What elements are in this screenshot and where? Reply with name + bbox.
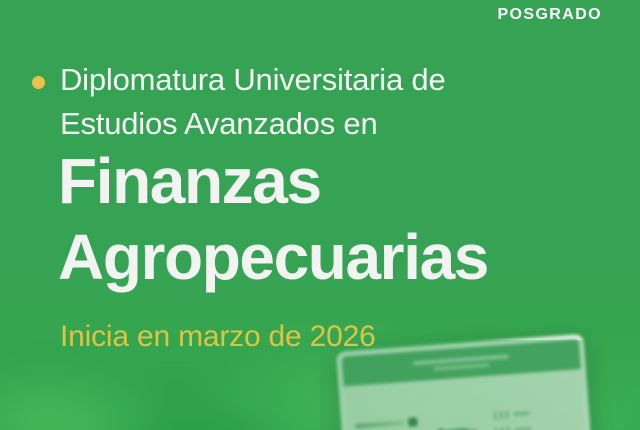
posgrado-badge: POSGRADO bbox=[497, 6, 602, 24]
start-date-text: Inicia en marzo de 2026 bbox=[60, 320, 376, 354]
cow-icon bbox=[429, 418, 484, 430]
subtitle-line-1: Diplomatura Universitaria de bbox=[60, 62, 446, 97]
cow-illustration-panel bbox=[424, 417, 489, 430]
headline-line-1: Finanzas bbox=[58, 145, 321, 217]
headline-line-2: Agropecuarias bbox=[58, 221, 488, 293]
tally-row bbox=[493, 405, 575, 420]
tablet-screen bbox=[341, 339, 590, 430]
list-item-bar bbox=[355, 420, 404, 429]
list-item bbox=[355, 417, 417, 430]
list-item-chip bbox=[408, 417, 418, 427]
tally-marks bbox=[493, 410, 510, 420]
subtitle-line-2: Estudios Avanzados en bbox=[60, 106, 378, 141]
tally-row-label bbox=[513, 411, 530, 416]
program-headline: Finanzas Agropecuarias bbox=[58, 143, 638, 295]
dashboard-title-placeholder bbox=[413, 354, 509, 365]
tally-row bbox=[494, 421, 576, 430]
dashboard-subtitle-placeholder bbox=[433, 362, 489, 370]
dashboard-right-list bbox=[493, 405, 579, 430]
subtitle-bullet-icon bbox=[32, 76, 45, 89]
dashboard-left-list bbox=[355, 417, 421, 430]
tally-marks bbox=[494, 426, 511, 430]
promotional-poster: POSGRADO Diplomatura Universitaria de Es… bbox=[0, 0, 640, 430]
program-subtitle: Diplomatura Universitaria de Estudios Av… bbox=[60, 58, 600, 146]
